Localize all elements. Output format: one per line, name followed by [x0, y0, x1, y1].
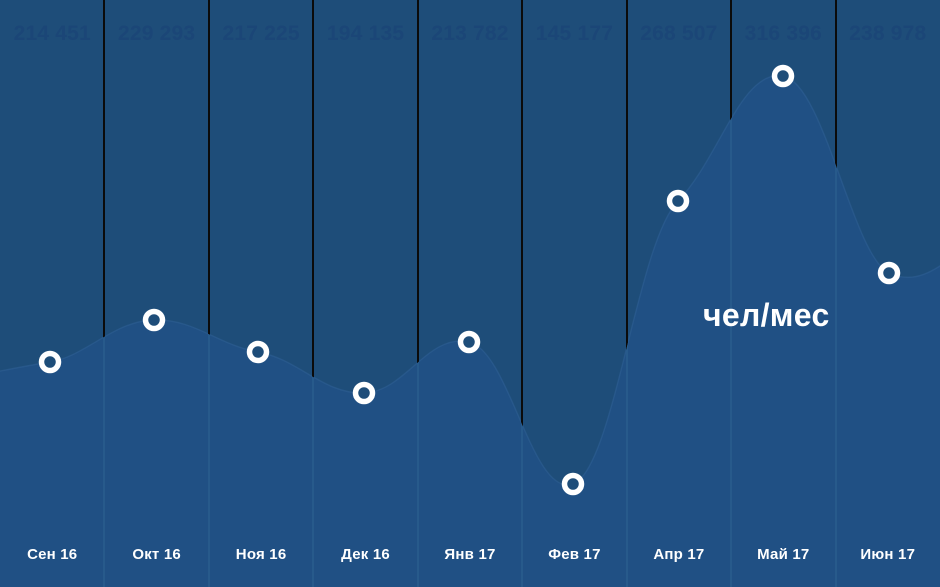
value-label-4: 194 135 [313, 18, 417, 50]
month-label-2: Окт 16 [104, 543, 208, 567]
data-point-marker-9[interactable] [881, 265, 898, 282]
value-label-5: 213 782 [418, 18, 522, 50]
data-point-marker-7[interactable] [670, 193, 687, 210]
month-label-1: Сен 16 [0, 543, 104, 567]
value-label-1: 214 451 [0, 18, 104, 50]
month-label-9: Июн 17 [836, 543, 940, 567]
data-point-marker-2[interactable] [146, 312, 163, 329]
value-label-2: 229 293 [104, 18, 208, 50]
data-point-marker-8[interactable] [775, 68, 792, 85]
value-label-8: 316 396 [731, 18, 835, 50]
value-label-6: 145 177 [522, 18, 626, 50]
data-point-marker-4[interactable] [356, 385, 373, 402]
month-label-4: Дек 16 [313, 543, 417, 567]
area-chart-svg [0, 0, 940, 587]
month-label-7: Апр 17 [627, 543, 731, 567]
data-point-marker-6[interactable] [565, 476, 582, 493]
unit-annotation: чел/мес [703, 297, 830, 334]
chart-canvas: 214 451229 293217 225194 135213 782145 1… [0, 0, 940, 587]
data-point-marker-1[interactable] [42, 354, 59, 371]
month-label-8: Май 17 [731, 543, 835, 567]
data-point-marker-5[interactable] [461, 334, 478, 351]
value-label-9: 238 978 [836, 18, 940, 50]
value-label-7: 268 507 [627, 18, 731, 50]
value-label-3: 217 225 [209, 18, 313, 50]
month-label-6: Фев 17 [522, 543, 626, 567]
month-label-5: Янв 17 [418, 543, 522, 567]
month-label-3: Ноя 16 [209, 543, 313, 567]
data-point-marker-3[interactable] [250, 344, 267, 361]
